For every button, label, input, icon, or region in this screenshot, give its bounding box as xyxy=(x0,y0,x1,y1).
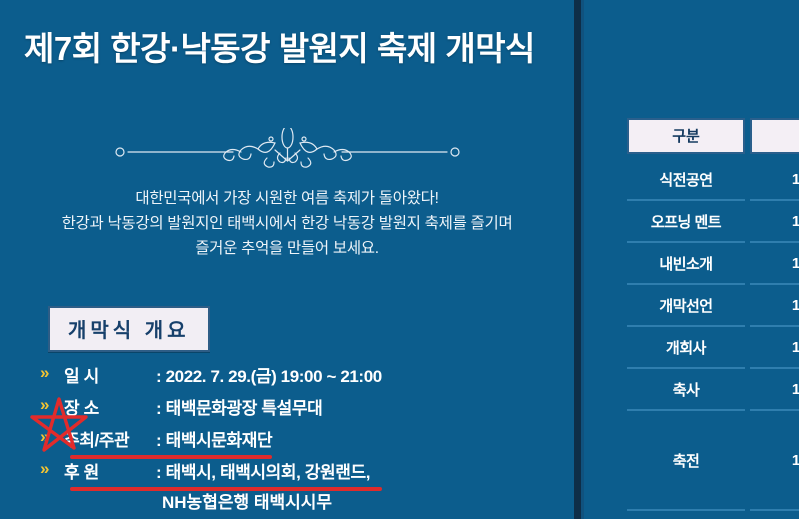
cell-time: 19:00~19:25 xyxy=(750,154,799,201)
cell-category: 오프닝 멘트 xyxy=(627,201,745,243)
table-row: 개회사 19:36~19:40 xyxy=(627,327,799,369)
intro-line-1: 대한민국에서 가장 시원한 여름 축제가 돌아왔다! xyxy=(0,186,574,211)
column-header-category: 구분 xyxy=(627,118,745,154)
detail-row-organizer: » 주최/주관 : 태백시문화재단 xyxy=(40,426,560,458)
cell-category: 축사 xyxy=(627,369,745,411)
detail-key-place: 장 소 xyxy=(64,394,156,419)
table-row: 내빈소개 19:30~19:32 xyxy=(627,243,799,285)
chevron-right-icon: » xyxy=(40,426,62,447)
right-panel: 구분 시간 식전공연 19:00~19:25 오프닝 멘트 19:25~19:3… xyxy=(581,0,799,519)
panel-divider xyxy=(574,0,581,519)
cell-time: 19:40~19:44 xyxy=(750,369,799,411)
detail-value-organizer: : 태백시문화재단 xyxy=(156,426,272,451)
detail-key-date: 일 시 xyxy=(64,362,156,387)
intro-line-3: 즐거운 추억을 만들어 보세요. xyxy=(0,236,574,261)
cell-category: 식전공연 xyxy=(627,154,745,201)
chevron-right-icon: » xyxy=(40,458,62,479)
cell-time: 19:32~19:36 xyxy=(750,285,799,327)
red-underline-annotation-2 xyxy=(70,487,382,491)
cell-category: 축전 xyxy=(627,411,745,511)
detail-row-date: » 일 시 : 2022. 7. 29.(금) 19:00 ~ 21:00 xyxy=(40,362,560,394)
cell-category: 내빈소개 xyxy=(627,243,745,285)
table-row: 오프닝 멘트 19:25~19:30 xyxy=(627,201,799,243)
table-row: 축전 19:44~19:50 xyxy=(627,411,799,511)
cell-time: 19:25~19:30 xyxy=(750,201,799,243)
chevron-right-icon: » xyxy=(40,394,62,415)
column-header-time: 시간 xyxy=(750,118,799,154)
detail-value-place: : 태백문화광장 특설무대 xyxy=(156,394,322,419)
table-header-row: 구분 시간 xyxy=(627,118,799,154)
cell-time: 19:30~19:32 xyxy=(750,243,799,285)
table-row: 축사 19:40~19:44 xyxy=(627,369,799,411)
detail-row-place: » 장 소 : 태백문화광장 특설무대 xyxy=(40,394,560,426)
intro-paragraph: 대한민국에서 가장 시원한 여름 축제가 돌아왔다! 한강과 낙동강의 발원지인… xyxy=(0,186,574,261)
cell-category: 개막선언 xyxy=(627,285,745,327)
festival-poster: 제7회 한강·낙동강 발원지 축제 개막식 xyxy=(0,0,799,519)
cell-time: 19:36~19:40 xyxy=(750,327,799,369)
schedule-table: 구분 시간 식전공연 19:00~19:25 오프닝 멘트 19:25~19:3… xyxy=(622,118,799,511)
intro-line-2: 한강과 낙동강의 발원지인 태백시에서 한강 낙동강 발원지 축제를 즐기며 xyxy=(0,211,574,236)
detail-value-sponsor-continued: NH농협은행 태백시시무 xyxy=(40,488,560,513)
floral-flourish-divider-icon xyxy=(115,128,460,172)
outline-heading-label: 개막식 개요 xyxy=(68,314,190,343)
detail-value-date: : 2022. 7. 29.(금) 19:00 ~ 21:00 xyxy=(156,362,382,387)
cell-time: 19:44~19:50 xyxy=(750,411,799,511)
detail-key-sponsor: 후 원 xyxy=(64,458,156,483)
cell-category: 개회사 xyxy=(627,327,745,369)
table-row: 식전공연 19:00~19:25 xyxy=(627,154,799,201)
left-panel: 제7회 한강·낙동강 발원지 축제 개막식 xyxy=(0,0,574,519)
outline-heading-box: 개막식 개요 xyxy=(48,306,210,352)
detail-value-sponsor: : 태백시, 태백시의회, 강원랜드, xyxy=(156,458,370,483)
detail-row-sponsor: » 후 원 : 태백시, 태백시의회, 강원랜드, xyxy=(40,458,560,488)
detail-key-organizer: 주최/주관 xyxy=(64,426,156,451)
chevron-right-icon: » xyxy=(40,362,62,383)
table-row: 개막선언 19:32~19:36 xyxy=(627,285,799,327)
red-underline-annotation-1 xyxy=(70,455,272,459)
page-title: 제7회 한강·낙동강 발원지 축제 개막식 xyxy=(24,22,535,70)
